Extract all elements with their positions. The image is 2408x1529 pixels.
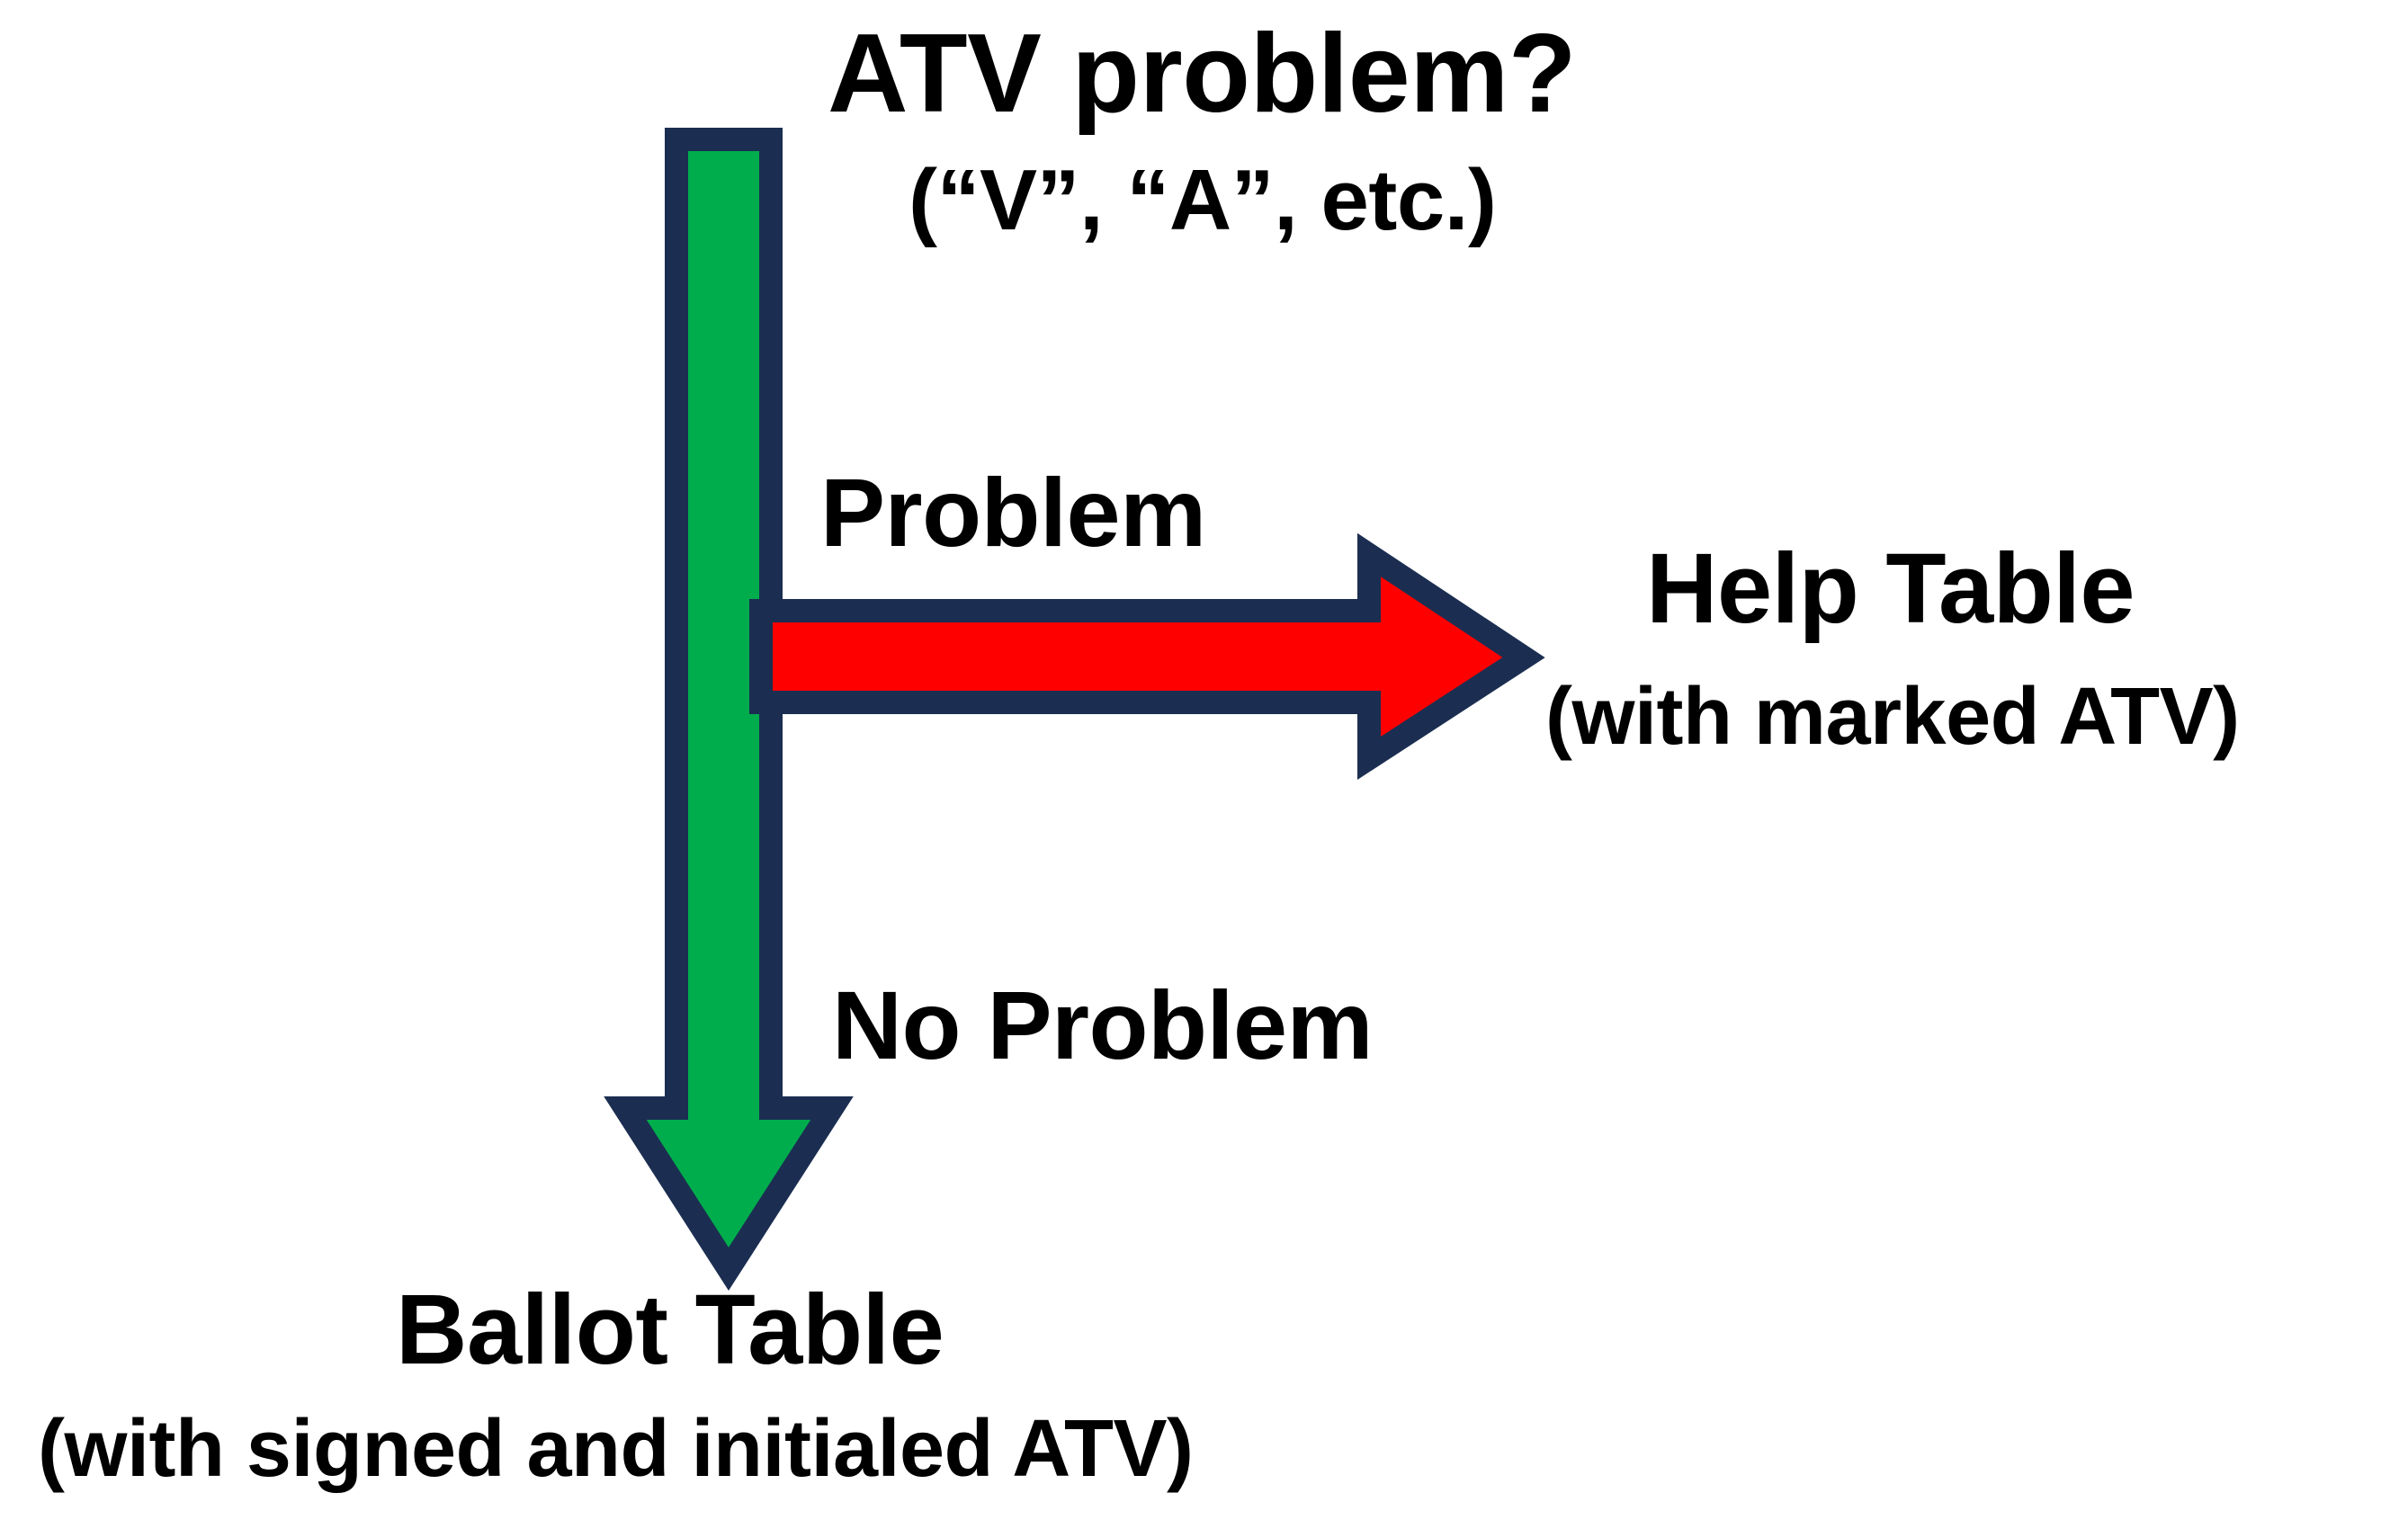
red-right-arrow[interactable] (761, 555, 1524, 758)
outcome-help-table-title: Help Table (1646, 540, 2135, 639)
branch-label-problem: Problem (820, 464, 1206, 561)
decision-question: ATV problem? (828, 18, 1576, 130)
branch-label-no-problem: No Problem (832, 977, 1373, 1074)
decision-examples: (“V”, “A”, etc.) (909, 157, 1496, 244)
outcome-ballot-table-note: (with signed and initialed ATV) (38, 1408, 1194, 1489)
diagram-canvas: ATV problem? (“V”, “A”, etc.) Problem No… (0, 0, 2408, 1529)
outcome-help-table-note: (with marked ATV) (1545, 676, 2240, 757)
outcome-ballot-table-title: Ballot Table (396, 1281, 944, 1380)
